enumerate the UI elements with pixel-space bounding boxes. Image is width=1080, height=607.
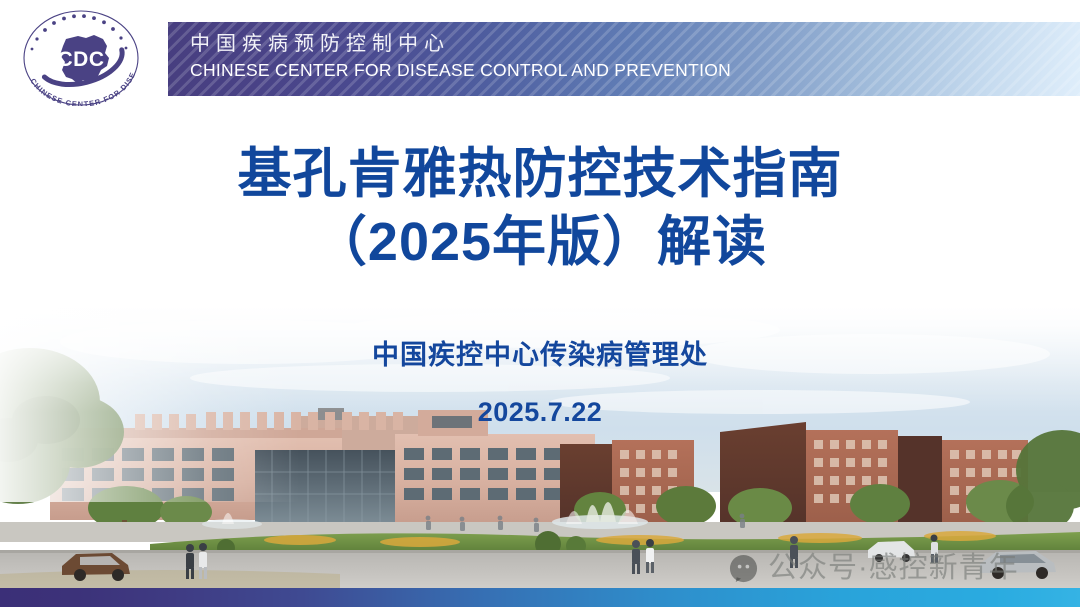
title-line-2: （2025年版）解读 xyxy=(0,208,1080,276)
slide-title: 基孔肯雅热防控技术指南 （2025年版）解读 xyxy=(0,140,1080,276)
bottom-accent-bar xyxy=(0,588,1080,607)
header-title-english: CHINESE CENTER FOR DISEASE CONTROL AND P… xyxy=(190,58,731,82)
slide-header: CDC CHINESE CENTER FOR DISEASE CONTROL A… xyxy=(0,0,1080,110)
title-line-1: 基孔肯雅热防控技术指南 xyxy=(0,140,1080,208)
cdc-acronym-text: CDC xyxy=(58,48,105,71)
campus-building-photo xyxy=(0,282,1080,588)
cdc-emblem-logo: CDC CHINESE CENTER FOR DISEASE CONTROL A… xyxy=(8,6,154,106)
organization-name: 中国疾控中心传染病管理处 xyxy=(0,337,1080,373)
cdc-logo-svg: CDC CHINESE CENTER FOR DISEASE CONTROL A… xyxy=(8,6,154,106)
header-title-chinese: 中国疾病预防控制中心 xyxy=(190,31,731,57)
presentation-slide: CDC CHINESE CENTER FOR DISEASE CONTROL A… xyxy=(0,0,1080,607)
header-banner-text: 中国疾病预防控制中心 CHINESE CENTER FOR DISEASE CO… xyxy=(190,31,731,82)
header-banner: 中国疾病预防控制中心 CHINESE CENTER FOR DISEASE CO… xyxy=(168,22,1080,96)
presentation-date: 2025.7.22 xyxy=(0,395,1080,429)
photo-illustration xyxy=(0,282,1080,588)
slide-subtitle: 中国疾控中心传染病管理处 2025.7.22 xyxy=(0,337,1080,429)
